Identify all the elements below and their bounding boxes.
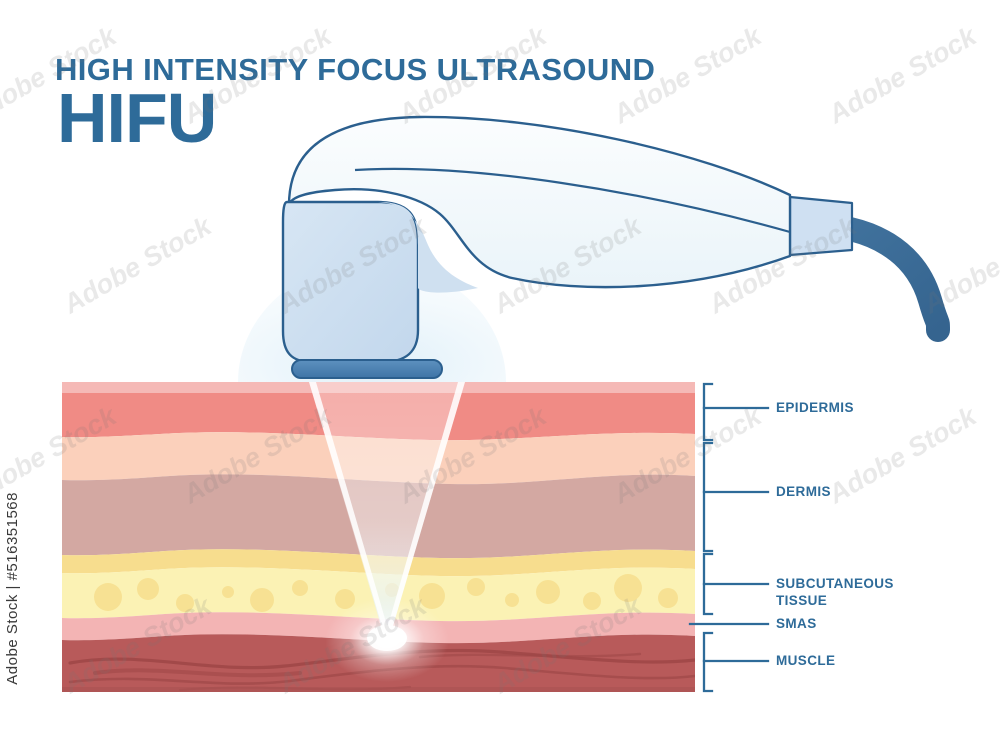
illustration-canvas: HIGH INTENSITY FOCUS ULTRASOUND HIFU EPI… — [0, 0, 1000, 754]
label-epidermis: EPIDERMIS — [776, 400, 854, 417]
label-smas: SMAS — [776, 616, 817, 633]
label-dermis: DERMIS — [776, 484, 831, 501]
label-muscle: MUSCLE — [776, 653, 835, 670]
label-subcutaneous-tissue-line2: TISSUE — [776, 593, 827, 610]
label-subcutaneous-tissue-line1: SUBCUTANEOUS — [776, 576, 894, 593]
layer-labels: EPIDERMIS DERMIS SUBCUTANEOUS TISSUE SMA… — [0, 0, 1000, 754]
stock-id-watermark: Adobe Stock | #516351568 — [4, 492, 21, 685]
